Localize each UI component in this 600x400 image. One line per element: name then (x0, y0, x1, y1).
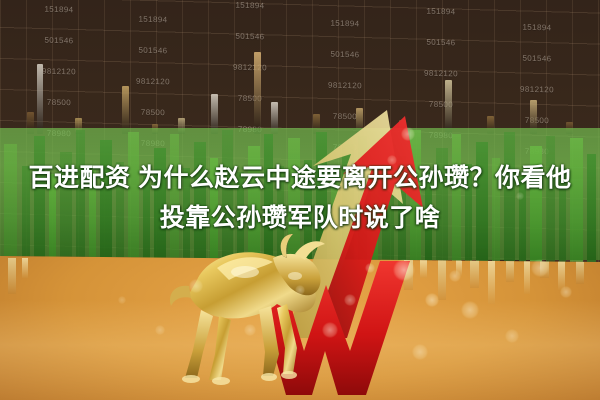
ticker-value: 151894 (492, 11, 582, 44)
golden-bull-statue (145, 228, 345, 393)
board-bar (122, 86, 129, 134)
gold-floor-bar (488, 260, 495, 304)
gold-floor-bar (456, 260, 462, 276)
gold-floor-bar (506, 260, 514, 282)
ticker-value: 501546 (205, 20, 295, 53)
gold-floor-bar (540, 260, 549, 278)
ticker-value: 501546 (396, 26, 486, 59)
ticker-value: 151894 (396, 0, 486, 28)
ticker-value: 9812120 (14, 55, 104, 88)
gold-floor-bar (576, 260, 584, 284)
ticker-value: 9812120 (205, 51, 295, 84)
page-title: 百进配资 为什么赵云中途要离开公孙瓒？你看他 投靠公孙瓒军队时说了啥 (0, 158, 600, 238)
ticker-value: 501546 (492, 42, 582, 75)
headline-line-2: 投靠公孙瓒军队时说了啥 (0, 198, 600, 238)
ticker-value: 9812120 (396, 57, 486, 90)
ticker-value: 501546 (300, 38, 390, 71)
ticker-value: 151894 (300, 7, 390, 40)
ticker-value: 9812120 (492, 73, 582, 106)
ticker-value: 151894 (205, 0, 295, 22)
ticker-value: 9812120 (300, 69, 390, 102)
gold-floor-bar (8, 258, 16, 294)
gold-floor-bar (22, 258, 28, 278)
ticker-value: 501546 (108, 34, 198, 67)
gold-floor-bar (470, 260, 479, 288)
gold-floor-bar (558, 260, 565, 290)
market-banner-image: 1518945015469812120785007898015189450154… (0, 0, 600, 400)
gold-floor-bar (524, 260, 530, 294)
headline-line-1: 百进配资 为什么赵云中途要离开公孙瓒？你看他 (29, 164, 572, 192)
ticker-value: 501546 (14, 24, 104, 57)
ticker-value: 151894 (108, 3, 198, 36)
ticker-value: 151894 (14, 0, 104, 26)
board-bar (37, 64, 43, 134)
